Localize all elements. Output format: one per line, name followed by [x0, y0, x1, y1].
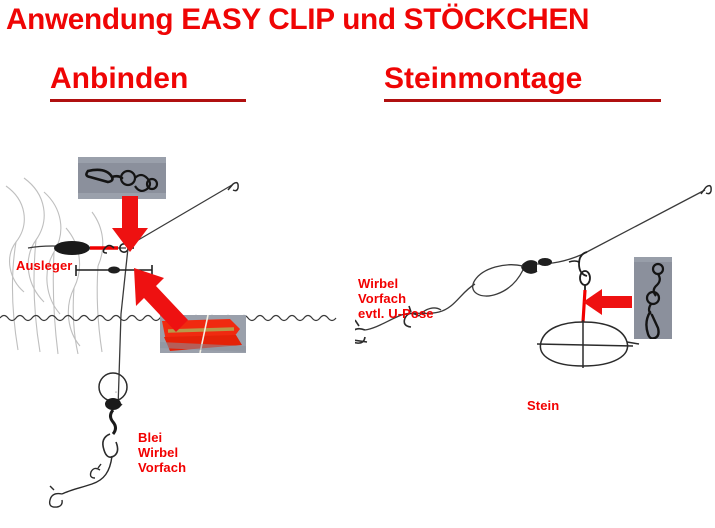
label-vorfach-2: Vorfach: [358, 291, 434, 306]
arrow-down-to-clip: [110, 196, 150, 254]
label-vorfach: Vorfach: [138, 460, 186, 475]
label-blei-wirbel-vorfach: Blei Wirbel Vorfach: [138, 430, 186, 475]
underline-anbinden: [50, 99, 246, 102]
illustration-page: Anwendung EASY CLIP und STÖCKCHEN Anbind…: [0, 0, 715, 528]
easy-clip-vertical-photo: [634, 257, 672, 339]
section-subtitle-steinmontage: Steinmontage: [384, 62, 582, 96]
label-stein: Stein: [527, 398, 559, 413]
arrow-up-left-to-stick: [128, 262, 200, 338]
underline-steinmontage: [384, 99, 661, 102]
page-title: Anwendung EASY CLIP und STÖCKCHEN: [6, 2, 704, 38]
label-wirbel: Wirbel: [138, 445, 186, 460]
label-wirbel-2: Wirbel: [358, 276, 434, 291]
section-subtitle-anbinden: Anbinden: [50, 62, 188, 96]
label-ausleger: Ausleger: [16, 258, 72, 273]
label-wirbel-vorfach-upose: Wirbel Vorfach evtl. U-Pose: [358, 276, 434, 321]
easy-clip-horizontal-photo: [78, 157, 166, 199]
arrow-left-to-clip: [582, 288, 634, 316]
label-evtl-u-pose: evtl. U-Pose: [358, 306, 434, 321]
label-blei: Blei: [138, 430, 186, 445]
